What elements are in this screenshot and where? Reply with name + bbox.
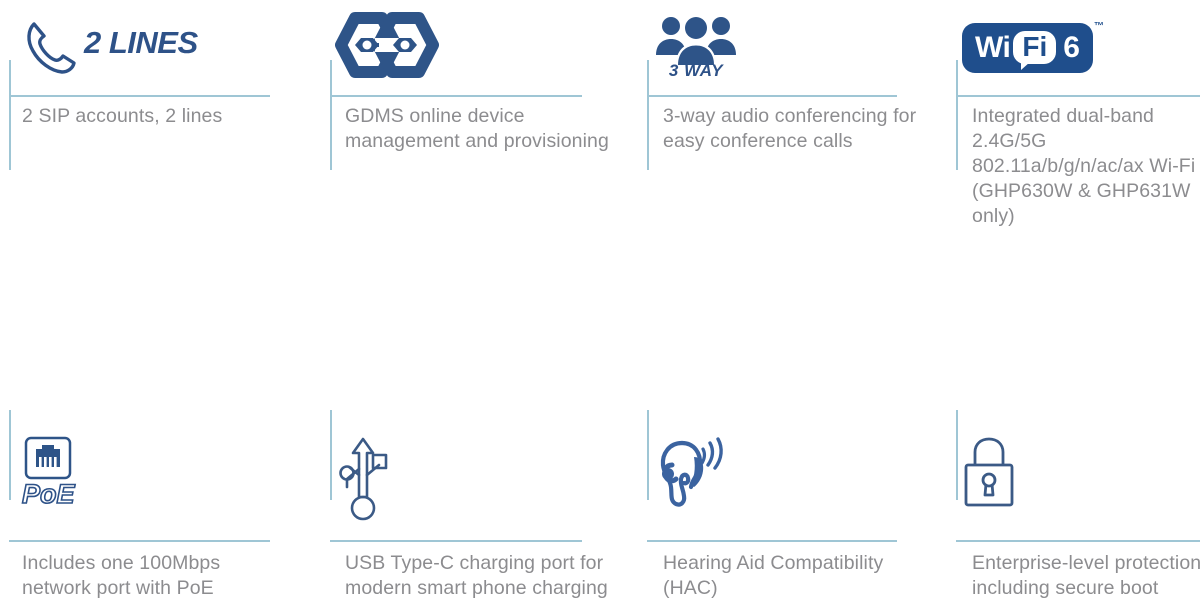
vertical-divider	[956, 410, 958, 500]
horizontal-divider	[9, 540, 270, 542]
icon-container	[335, 435, 391, 535]
icon-container	[335, 0, 439, 95]
feature-card-2-lines: 2 LINES 2 SIP accounts, 2 lines	[0, 0, 310, 210]
feature-card-gdms: GDMS online device management and provis…	[310, 0, 630, 210]
feature-grid: 2 LINES 2 SIP accounts, 2 lines	[0, 0, 1200, 413]
wifi-logo-wi: Wi	[975, 33, 1010, 63]
feature-card-security: Enterprise-level protection including se…	[940, 210, 1200, 413]
feature-description: Includes one 100Mbps network port with P…	[22, 551, 272, 601]
padlock-security-icon	[962, 435, 1016, 514]
vertical-divider	[956, 60, 958, 170]
wifi-logo-fi: Fi	[1013, 31, 1056, 64]
feature-description: USB Type-C charging port for modern smar…	[345, 551, 615, 601]
horizontal-divider	[330, 540, 582, 542]
feature-description: Enterprise-level protection including se…	[972, 551, 1200, 601]
vertical-divider	[9, 410, 11, 500]
wifi-logo-six: 6	[1063, 33, 1080, 63]
horizontal-divider	[647, 95, 897, 97]
icon-container: 3 WAY	[652, 0, 740, 95]
feature-card-wifi6: Wi Fi 6 ™ Integrated dual-band 2.4G/5G 8…	[940, 0, 1200, 210]
icon-container	[652, 435, 730, 535]
horizontal-divider	[647, 540, 897, 542]
horizontal-divider	[330, 95, 582, 97]
icon-label-poe: PoE	[22, 481, 75, 508]
three-people-conference-icon: 3 WAY	[652, 15, 740, 81]
vertical-divider	[647, 410, 649, 500]
horizontal-divider	[956, 95, 1200, 97]
feature-card-poe: PoE Includes one 100Mbps network port wi…	[0, 210, 310, 413]
poe-ethernet-port-icon: PoE	[22, 435, 75, 508]
feature-description: 2 SIP accounts, 2 lines	[22, 104, 272, 129]
hearing-aid-ear-icon	[652, 435, 730, 516]
icon-label-3-way: 3 WAY	[669, 61, 723, 81]
vertical-divider	[330, 60, 332, 170]
feature-card-usb-type-c: USB Type-C charging port for modern smar…	[310, 210, 630, 413]
horizontal-divider	[956, 540, 1200, 542]
feature-card-3-way: 3 WAY 3-way audio conferencing for easy …	[630, 0, 940, 210]
vertical-divider	[647, 60, 649, 170]
vertical-divider	[9, 60, 11, 170]
phone-handset-2-lines-icon: 2 LINES	[22, 17, 198, 79]
usb-type-c-icon	[335, 435, 391, 530]
icon-container: 2 LINES	[22, 0, 198, 95]
feature-description: Hearing Aid Compatibility (HAC)	[663, 551, 923, 601]
icon-container: Wi Fi 6 ™	[962, 0, 1093, 95]
icon-container	[962, 435, 1016, 535]
trademark-icon: ™	[1094, 21, 1104, 32]
feature-description: GDMS online device management and provis…	[345, 104, 615, 154]
feature-card-hearing-aid: Hearing Aid Compatibility (HAC)	[630, 210, 940, 413]
vertical-divider	[330, 410, 332, 500]
horizontal-divider	[9, 95, 270, 97]
icon-container: PoE	[22, 435, 75, 535]
wifi-6-logo-icon: Wi Fi 6 ™	[962, 23, 1093, 73]
gdms-hexagon-circuit-icon	[335, 12, 439, 83]
feature-description: 3-way audio conferencing for easy confer…	[663, 104, 923, 154]
icon-label-2-lines: 2 LINES	[84, 25, 198, 61]
